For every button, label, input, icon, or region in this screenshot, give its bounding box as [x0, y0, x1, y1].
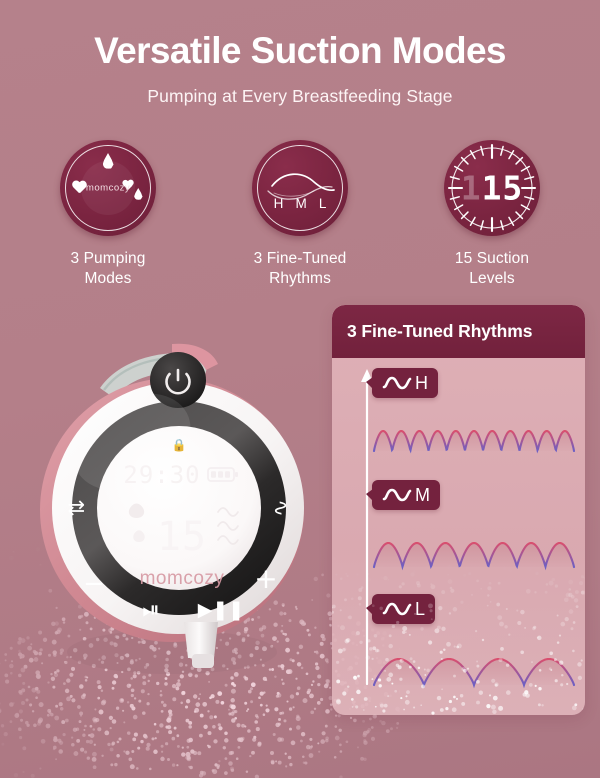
wave-icon	[381, 485, 413, 505]
wave-icon	[252, 140, 348, 236]
play-pause-button: ▶❚❚	[198, 599, 244, 621]
timer-button: ⏯	[142, 598, 160, 623]
badge-disc: 115	[444, 140, 540, 236]
badge-caption: 3 Pumping Modes	[70, 249, 145, 290]
badge-caption-line2: Modes	[70, 269, 145, 289]
lcd-value: 15	[482, 169, 524, 208]
badge-caption: 3 Fine-Tuned Rhythms	[254, 249, 347, 290]
badge-disc: momcozy	[60, 140, 156, 236]
badge-disc: H M L	[252, 140, 348, 236]
badge-fine-tuned-rhythms: H M L 3 Fine-Tuned Rhythms	[236, 140, 364, 290]
momcozy-wordmark: momcozy	[86, 183, 130, 194]
device-brand: momcozy	[140, 568, 225, 589]
rhythm-wave-low	[372, 631, 578, 697]
rhythm-letter: M	[415, 486, 430, 504]
hml-letters: H M L	[252, 196, 348, 211]
decrease-button: −	[83, 569, 105, 599]
page-title: Versatile Suction Modes	[0, 30, 600, 72]
rhythm-row-high: H	[372, 368, 578, 466]
rhythm-letter: H	[415, 374, 428, 392]
level-readout: 15	[157, 514, 207, 560]
rhythm-tag-high: H	[372, 368, 438, 398]
rhythm-tag-medium: M	[372, 480, 440, 510]
rhythm-button: ∿	[269, 499, 293, 517]
badge-caption-line1: 15 Suction	[455, 249, 529, 269]
rhythm-row-medium: M	[372, 480, 578, 584]
feature-badges: momcozy 3 Pumping Modes H M L	[0, 140, 600, 290]
heart-icon	[72, 181, 87, 195]
rhythms-panel: 3 Fine-Tuned Rhythms H	[332, 305, 585, 715]
wave-icon	[381, 373, 413, 393]
badge-caption-line2: Rhythms	[254, 269, 347, 289]
badge-suction-levels: 115 15 Suction Levels	[428, 140, 556, 290]
wave-icon	[381, 599, 413, 619]
panel-title: 3 Fine-Tuned Rhythms	[332, 321, 532, 342]
rhythm-tag-low: L	[372, 594, 435, 624]
rhythm-wave-medium	[372, 517, 578, 579]
panel-body: H	[332, 358, 585, 715]
rhythm-row-low: L	[372, 594, 578, 702]
badge-caption: 15 Suction Levels	[455, 249, 529, 290]
increase-button: +	[254, 562, 277, 595]
rhythm-wave-high	[372, 405, 578, 461]
svg-text:⇅: ⇅	[65, 499, 89, 517]
rhythm-letter: L	[415, 600, 425, 618]
page-subtitle: Pumping at Every Breastfeeding Stage	[0, 86, 600, 107]
breast-pump-device: ⇅ ∿ − + ⏯ ▶❚❚ 🔒 29:30 15	[22, 322, 322, 692]
promo-image: Versatile Suction Modes Pumping at Every…	[0, 0, 600, 778]
badge-caption-line1: 3 Pumping	[70, 249, 145, 269]
badge-caption-line1: 3 Fine-Tuned	[254, 249, 347, 269]
badge-pumping-modes: momcozy 3 Pumping Modes	[44, 140, 172, 290]
svg-text:∿: ∿	[269, 499, 293, 517]
panel-header: 3 Fine-Tuned Rhythms	[332, 305, 585, 358]
lcd-digits-icon: 115	[444, 169, 540, 208]
badge-caption-line2: Levels	[455, 269, 529, 289]
mode-switch-button: ⇅	[65, 499, 89, 517]
